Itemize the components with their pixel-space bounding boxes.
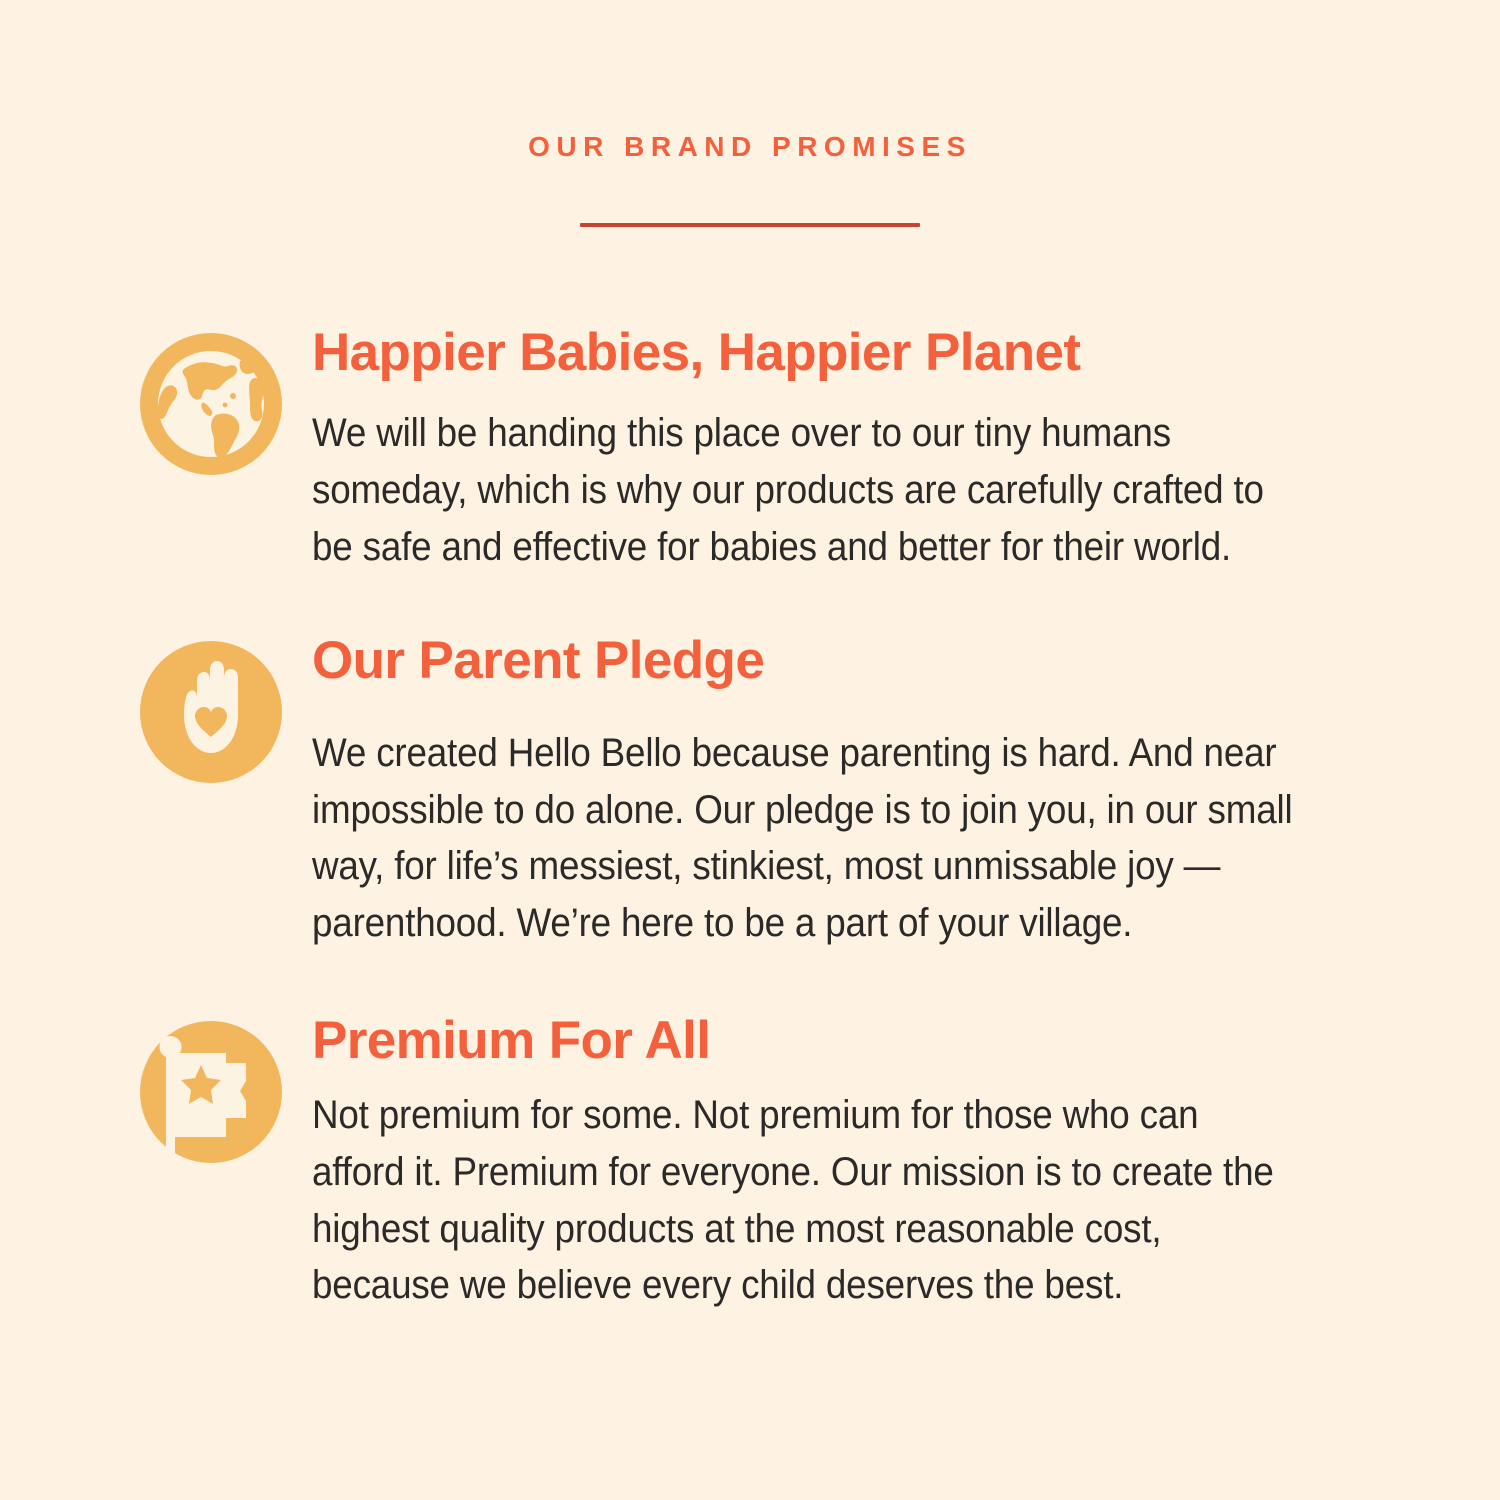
promise-icon-column — [0, 1013, 312, 1171]
page-header: OUR BRAND PROMISES — [0, 0, 1500, 227]
promise-text-column: Our Parent Pledge We created Hello Bello… — [312, 633, 1500, 952]
divider-wrapper — [0, 223, 1500, 227]
horizontal-rule-icon — [580, 223, 920, 227]
promise-icon-column — [0, 325, 312, 483]
promise-icon-column — [0, 633, 312, 791]
page-title: OUR BRAND PROMISES — [0, 133, 1500, 161]
brand-promises-page: OUR BRAND PROMISES — [0, 0, 1500, 1500]
promise-item: Premium For All Not premium for some. No… — [0, 1013, 1500, 1314]
promise-title: Happier Babies, Happier Planet — [312, 325, 1385, 381]
promise-text-column: Happier Babies, Happier Planet We will b… — [312, 325, 1500, 576]
promise-body: We created Hello Bello because parenting… — [312, 725, 1299, 952]
promise-body: Not premium for some. Not premium for th… — [312, 1087, 1299, 1314]
promises-list: Happier Babies, Happier Planet We will b… — [0, 325, 1500, 1314]
promise-item: Happier Babies, Happier Planet We will b… — [0, 325, 1500, 576]
promise-title: Our Parent Pledge — [312, 633, 1385, 689]
globe-icon — [140, 333, 286, 483]
promise-item: Our Parent Pledge We created Hello Bello… — [0, 633, 1500, 952]
flag-star-icon — [140, 1021, 286, 1171]
hand-heart-icon — [140, 641, 286, 791]
promise-body: We will be handing this place over to ou… — [312, 405, 1299, 575]
promise-text-column: Premium For All Not premium for some. No… — [312, 1013, 1500, 1314]
promise-title: Premium For All — [312, 1013, 1385, 1069]
